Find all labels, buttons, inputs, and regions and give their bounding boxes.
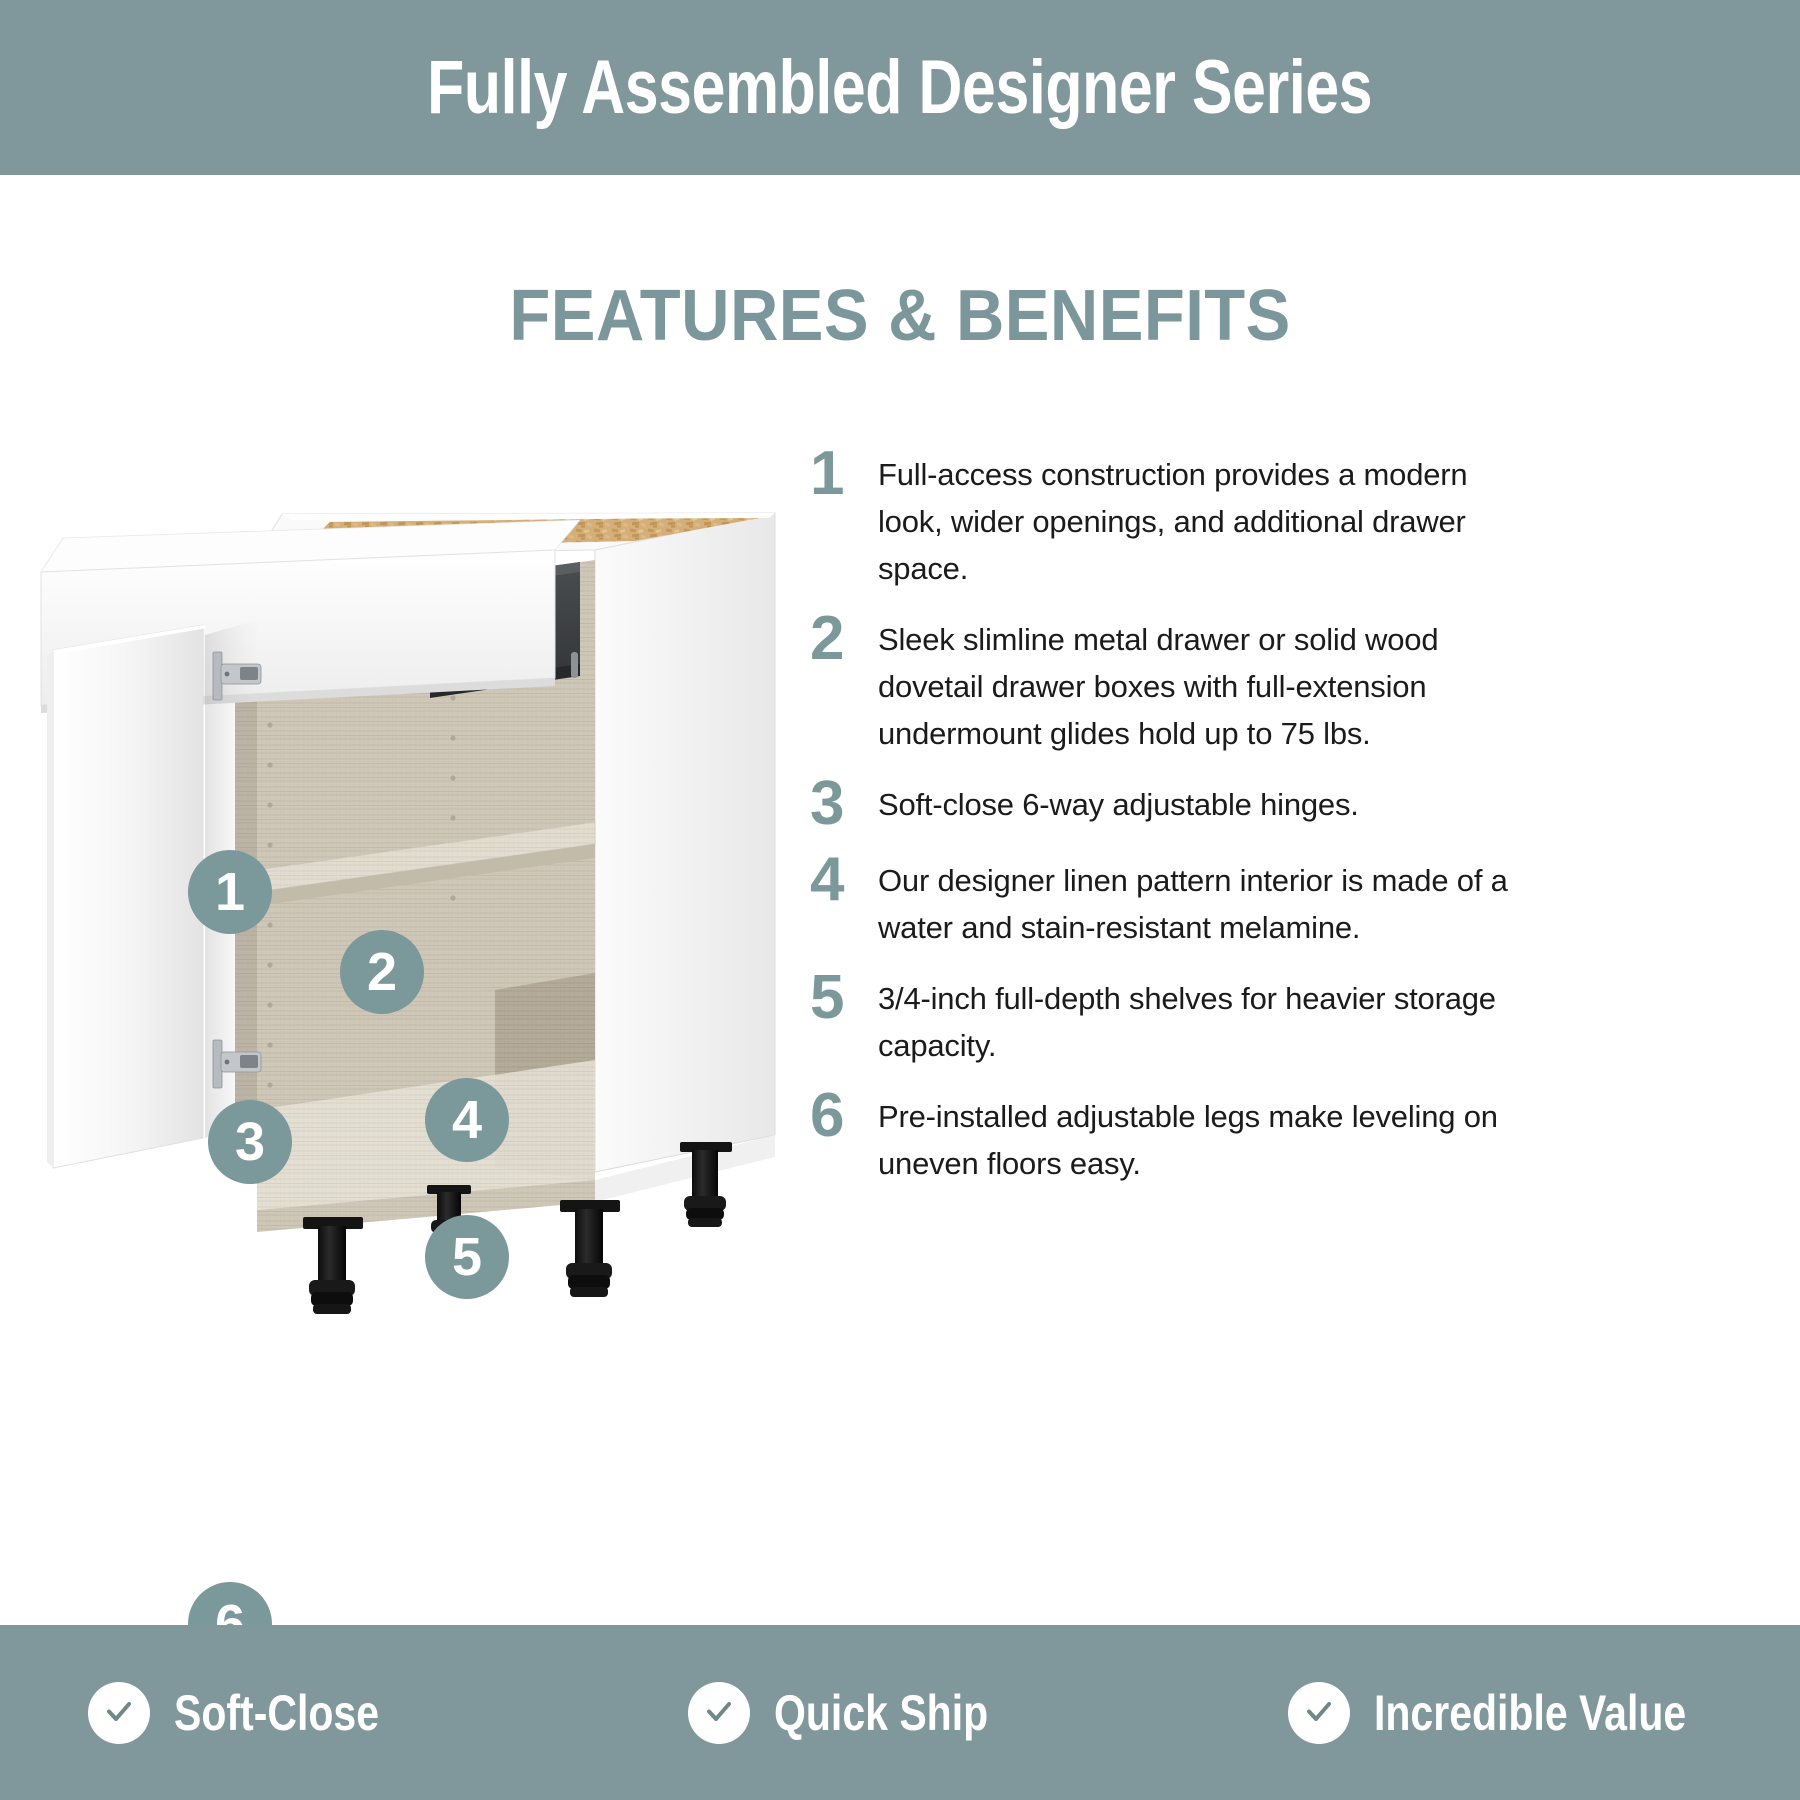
callout-badge-3[interactable]: 3 bbox=[208, 1100, 292, 1184]
adjustable-leg bbox=[560, 1200, 620, 1297]
feature-text-1: Full-access construction provides a mode… bbox=[878, 445, 1510, 592]
hinge-cup-bottom bbox=[240, 1055, 258, 1068]
header-bar: Fully Assembled Designer Series bbox=[0, 0, 1800, 175]
feature-item-1: 1 Full-access construction provides a mo… bbox=[810, 445, 1510, 592]
door-left-edge bbox=[47, 650, 53, 1168]
feature-text-3: Soft-close 6-way adjustable hinges. bbox=[878, 775, 1510, 828]
feature-text-2: Sleek slimline metal drawer or solid woo… bbox=[878, 610, 1510, 757]
hinge-screw-top bbox=[225, 672, 230, 677]
feature-number-2: 2 bbox=[810, 610, 878, 668]
check-circle-icon bbox=[88, 1682, 150, 1744]
footer-label-quick-ship: Quick Ship bbox=[774, 1688, 988, 1738]
section-heading: FEATURES & BENEFITS bbox=[0, 280, 1800, 352]
feature-item-3: 3 Soft-close 6-way adjustable hinges. bbox=[810, 775, 1510, 833]
main-content: 1 2 3 4 5 6 1 Full-access construction p… bbox=[0, 400, 1800, 1500]
adjustable-leg bbox=[303, 1217, 363, 1314]
footer-label-incredible-value: Incredible Value bbox=[1374, 1688, 1686, 1738]
check-circle-icon bbox=[688, 1682, 750, 1744]
feature-item-5: 5 3/4-inch full-depth shelves for heavie… bbox=[810, 969, 1510, 1069]
footer-badge-soft-close: Soft-Close bbox=[0, 1682, 600, 1744]
footer-label-soft-close: Soft-Close bbox=[174, 1688, 379, 1738]
feature-item-6: 6 Pre-installed adjustable legs make lev… bbox=[810, 1087, 1510, 1187]
door-face bbox=[53, 625, 203, 1168]
feature-item-2: 2 Sleek slimline metal drawer or solid w… bbox=[810, 610, 1510, 757]
features-list: 1 Full-access construction provides a mo… bbox=[810, 445, 1510, 1205]
footer-badge-quick-ship: Quick Ship bbox=[600, 1682, 1200, 1744]
callout-badge-4[interactable]: 4 bbox=[425, 1078, 509, 1162]
section-heading-text: FEATURES & BENEFITS bbox=[509, 280, 1290, 352]
callout-badge-5[interactable]: 5 bbox=[425, 1215, 509, 1299]
cabinet-right-side-panel bbox=[595, 513, 775, 1172]
feature-item-4: 4 Our designer linen pattern interior is… bbox=[810, 851, 1510, 951]
page-title: Fully Assembled Designer Series bbox=[427, 50, 1372, 126]
feature-number-1: 1 bbox=[810, 445, 878, 503]
feature-text-4: Our designer linen pattern interior is m… bbox=[878, 851, 1510, 951]
feature-number-5: 5 bbox=[810, 969, 878, 1027]
hinge-cup-top bbox=[240, 667, 258, 680]
callout-badge-2[interactable]: 2 bbox=[340, 930, 424, 1014]
undermount-glide bbox=[571, 652, 578, 678]
check-circle-icon bbox=[1288, 1682, 1350, 1744]
footer-badge-incredible-value: Incredible Value bbox=[1200, 1682, 1800, 1744]
feature-text-6: Pre-installed adjustable legs make level… bbox=[878, 1087, 1510, 1187]
feature-number-4: 4 bbox=[810, 851, 878, 909]
callout-badge-1[interactable]: 1 bbox=[188, 850, 272, 934]
footer-bar: Soft-Close Quick Ship Incredible Value bbox=[0, 1625, 1800, 1800]
hinge-screw-bottom bbox=[225, 1060, 230, 1065]
feature-number-6: 6 bbox=[810, 1087, 878, 1145]
feature-number-3: 3 bbox=[810, 775, 878, 833]
feature-text-5: 3/4-inch full-depth shelves for heavier … bbox=[878, 969, 1510, 1069]
